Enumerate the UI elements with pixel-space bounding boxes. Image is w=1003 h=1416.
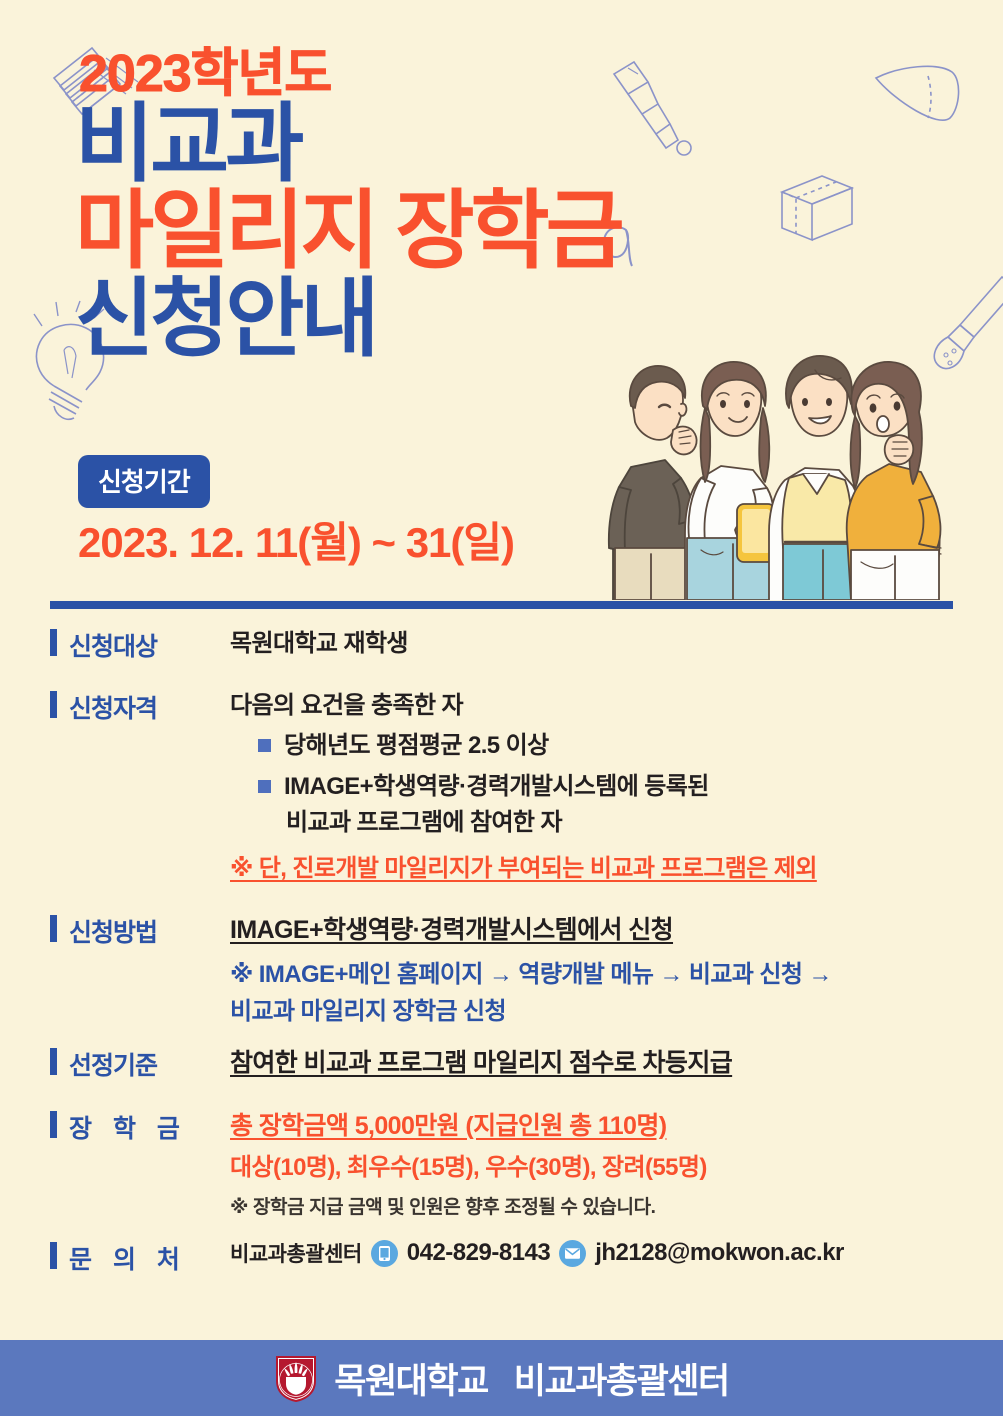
title-line-2: 마일리지 장학금: [75, 188, 715, 274]
spacer: [50, 1224, 965, 1238]
section-divider: [50, 601, 953, 609]
poster-header: 2023학년도 비교과 마일리지 장학금 신청안내: [75, 48, 715, 362]
content-target: 목원대학교 재학생: [230, 625, 965, 662]
spacer: [50, 889, 965, 911]
label-eligibility: 신청자격: [50, 687, 230, 725]
scholarship-poster: 2023학년도 비교과 마일리지 장학금 신청안내 신청기간 2023. 12.…: [0, 0, 1003, 1416]
label-target: 신청대상: [50, 625, 230, 663]
spacer: [50, 1085, 965, 1107]
contact-center-name: 비교과총괄센터: [230, 1238, 362, 1268]
eligibility-bullet-2: IMAGE+학생역량·경력개발시스템에 등록된 비교과 프로그램에 참여한 자: [284, 769, 709, 842]
row-criteria: 선정기준 참여한 비교과 프로그램 마일리지 점수로 차등지급: [50, 1044, 965, 1083]
eligibility-note: ※ 단, 진로개발 마일리지가 부여되는 비교과 프로그램은 제외: [230, 850, 965, 887]
criteria-value: 참여한 비교과 프로그램 마일리지 점수로 차등지급: [230, 1044, 965, 1083]
scholarship-note: ※ 장학금 지급 금액 및 인원은 향후 조정될 수 있습니다.: [230, 1193, 965, 1222]
label-bar-icon: [50, 1048, 57, 1075]
eligibility-bullets: 당해년도 평점평균 2.5 이상 IMAGE+학생역량·경력개발시스템에 등록된…: [230, 728, 965, 841]
label-bar-icon: [50, 915, 57, 942]
label-method-text: 신청방법: [69, 913, 157, 949]
label-bar-icon: [50, 1111, 57, 1138]
method-main: IMAGE+학생역량·경력개발시스템에서 신청: [230, 911, 965, 950]
period-badge: 신청기간: [78, 455, 210, 508]
label-eligibility-text: 신청자격: [69, 689, 157, 725]
label-contact-text: 문 의 처: [69, 1240, 187, 1276]
method-path-line-1: ※ IMAGE+메인 홈페이지 → 역량개발 메뉴 → 비교과 신청 →: [230, 956, 965, 993]
footer-center: 비교과총괄센터: [514, 1362, 729, 1401]
eligibility-bullet-2-line-2: 비교과 프로그램에 참여한 자: [284, 805, 709, 841]
label-target-text: 신청대상: [69, 627, 157, 663]
footer-text: 목원대학교비교과총괄센터: [334, 1353, 728, 1404]
content-method: IMAGE+학생역량·경력개발시스템에서 신청 ※ IMAGE+메인 홈페이지 …: [230, 911, 965, 1030]
label-bar-icon: [50, 1242, 57, 1269]
contact-phone[interactable]: 042-829-8143: [407, 1239, 550, 1267]
target-value: 목원대학교 재학생: [230, 625, 965, 662]
list-item: 당해년도 평점평균 2.5 이상: [230, 728, 965, 764]
row-scholarship: 장 학 금 총 장학금액 5,000만원 (지급인원 총 110명) 대상(10…: [50, 1107, 965, 1222]
label-scholarship: 장 학 금: [50, 1107, 230, 1145]
label-bar-icon: [50, 629, 57, 656]
cone-doodle: [870, 60, 970, 140]
eligibility-bullet-2-line-1: IMAGE+학생역량·경력개발시스템에 등록된: [284, 773, 709, 800]
row-target: 신청대상 목원대학교 재학생: [50, 625, 965, 663]
list-item: IMAGE+학생역량·경력개발시스템에 등록된 비교과 프로그램에 참여한 자: [230, 769, 965, 842]
spacer: [50, 1032, 965, 1044]
contact-email[interactable]: jh2128@mokwon.ac.kr: [595, 1239, 844, 1267]
scholarship-total: 총 장학금액 5,000만원 (지급인원 총 110명): [230, 1107, 965, 1146]
label-criteria: 선정기준: [50, 1044, 230, 1082]
envelope-icon: [559, 1240, 586, 1267]
eligibility-bullet-1: 당해년도 평점평균 2.5 이상: [284, 728, 549, 764]
method-path-line-2: 비교과 마일리지 장학금 신청: [230, 993, 965, 1030]
label-method: 신청방법: [50, 911, 230, 949]
period-date: 2023. 12. 11(월) ~ 31(일): [78, 520, 514, 566]
mokwon-university-shield-logo: [274, 1353, 318, 1403]
row-contact: 문 의 처 비교과총괄센터 042-829-8143: [50, 1238, 965, 1276]
square-bullet-icon: [258, 739, 271, 752]
row-eligibility: 신청자격 다음의 요건을 충족한 자 당해년도 평점평균 2.5 이상 IMAG…: [50, 687, 965, 887]
eligibility-intro: 다음의 요건을 충족한 자: [230, 687, 965, 724]
row-method: 신청방법 IMAGE+학생역량·경력개발시스템에서 신청 ※ IMAGE+메인 …: [50, 911, 965, 1030]
spacer: [50, 665, 965, 687]
square-bullet-icon: [258, 780, 271, 793]
content-criteria: 참여한 비교과 프로그램 마일리지 점수로 차등지급: [230, 1044, 965, 1083]
poster-footer: 목원대학교비교과총괄센터: [0, 1340, 1003, 1416]
application-period-block: 신청기간 2023. 12. 11(월) ~ 31(일): [78, 455, 514, 566]
label-contact: 문 의 처: [50, 1238, 230, 1276]
cube-doodle: [778, 170, 858, 250]
title-line-1: 비교과: [75, 102, 715, 186]
poster-body: 신청대상 목원대학교 재학생 신청자격 다음의 요건을 충족한 자 당해년도 평…: [50, 625, 965, 1278]
content-contact: 비교과총괄센터 042-829-8143: [230, 1238, 965, 1268]
label-criteria-text: 선정기준: [69, 1046, 157, 1082]
content-eligibility: 다음의 요건을 충족한 자 당해년도 평점평균 2.5 이상 IMAGE+학생역…: [230, 687, 965, 887]
contact-details: 비교과총괄센터 042-829-8143: [230, 1238, 965, 1268]
label-bar-icon: [50, 691, 57, 718]
content-scholarship: 총 장학금액 5,000만원 (지급인원 총 110명) 대상(10명), 최우…: [230, 1107, 965, 1222]
label-scholarship-text: 장 학 금: [69, 1109, 187, 1145]
title-year: 2023학년도: [79, 48, 715, 100]
footer-university: 목원대학교: [334, 1362, 488, 1401]
scholarship-breakdown: 대상(10명), 최우수(15명), 우수(30명), 장려(55명): [230, 1149, 965, 1186]
title-line-3: 신청안내: [75, 276, 715, 362]
phone-icon: [371, 1240, 398, 1267]
